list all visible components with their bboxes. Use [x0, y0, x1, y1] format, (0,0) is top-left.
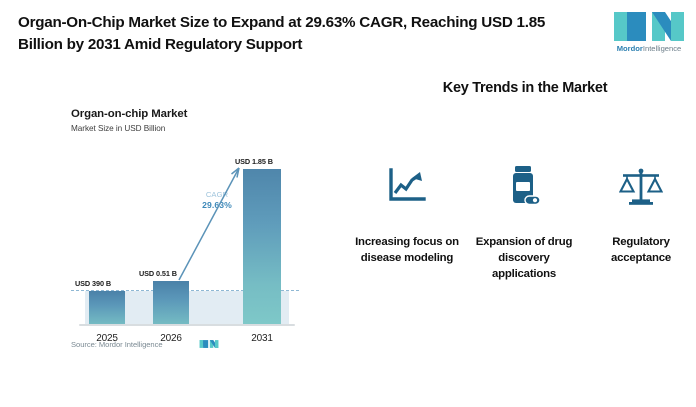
- chart-source-text: Source: Mordor Intelligence: [71, 340, 163, 349]
- trend-item-drug-discovery: Expansion of drug discovery applications: [469, 160, 579, 283]
- key-trends-list: Increasing focus on disease modeling Exp…: [352, 160, 696, 283]
- mordor-logo-mark: [612, 10, 686, 43]
- trend-label: Increasing focus on disease modeling: [352, 234, 462, 266]
- market-size-chart: Organ-on-chip Market Market Size in USD …: [60, 100, 305, 372]
- key-trends-title: Key Trends in the Market: [360, 80, 690, 96]
- page-title: Organ-On-Chip Market Size to Expand at 2…: [18, 12, 578, 55]
- chart-plot-area: USD 390 B USD 0.51 B USD 1.85 B CAGR 29.…: [71, 144, 299, 324]
- trend-item-disease-modeling: Increasing focus on disease modeling: [352, 160, 462, 266]
- pill-bottle-icon: [507, 160, 541, 212]
- mordor-logo-text: MordorIntelligence: [612, 45, 686, 53]
- trend-label: Regulatory acceptance: [586, 234, 696, 266]
- logo-word-intelligence: Intelligence: [643, 44, 681, 53]
- chart-subtitle: Market Size in USD Billion: [71, 124, 165, 133]
- trend-label: Expansion of drug discovery applications: [469, 234, 579, 283]
- trend-item-regulatory-acceptance: Regulatory acceptance: [586, 160, 696, 266]
- growth-arrow-icon: [71, 144, 299, 324]
- key-trends-panel: Key Trends in the Market Increasing focu…: [352, 72, 696, 342]
- mordor-intelligence-logo: MordorIntelligence: [612, 10, 686, 60]
- mordor-logo-mark-small: [199, 338, 219, 350]
- chart-title: Organ-on-chip Market: [71, 108, 187, 120]
- balance-scales-icon: [619, 160, 663, 212]
- chart-x-axis: [79, 324, 295, 326]
- logo-word-mordor: Mordor: [617, 44, 643, 53]
- chart-source-row: Source: Mordor Intelligence: [71, 338, 299, 354]
- page-header: Organ-On-Chip Market Size to Expand at 2…: [0, 0, 696, 70]
- line-chart-up-icon: [387, 160, 427, 212]
